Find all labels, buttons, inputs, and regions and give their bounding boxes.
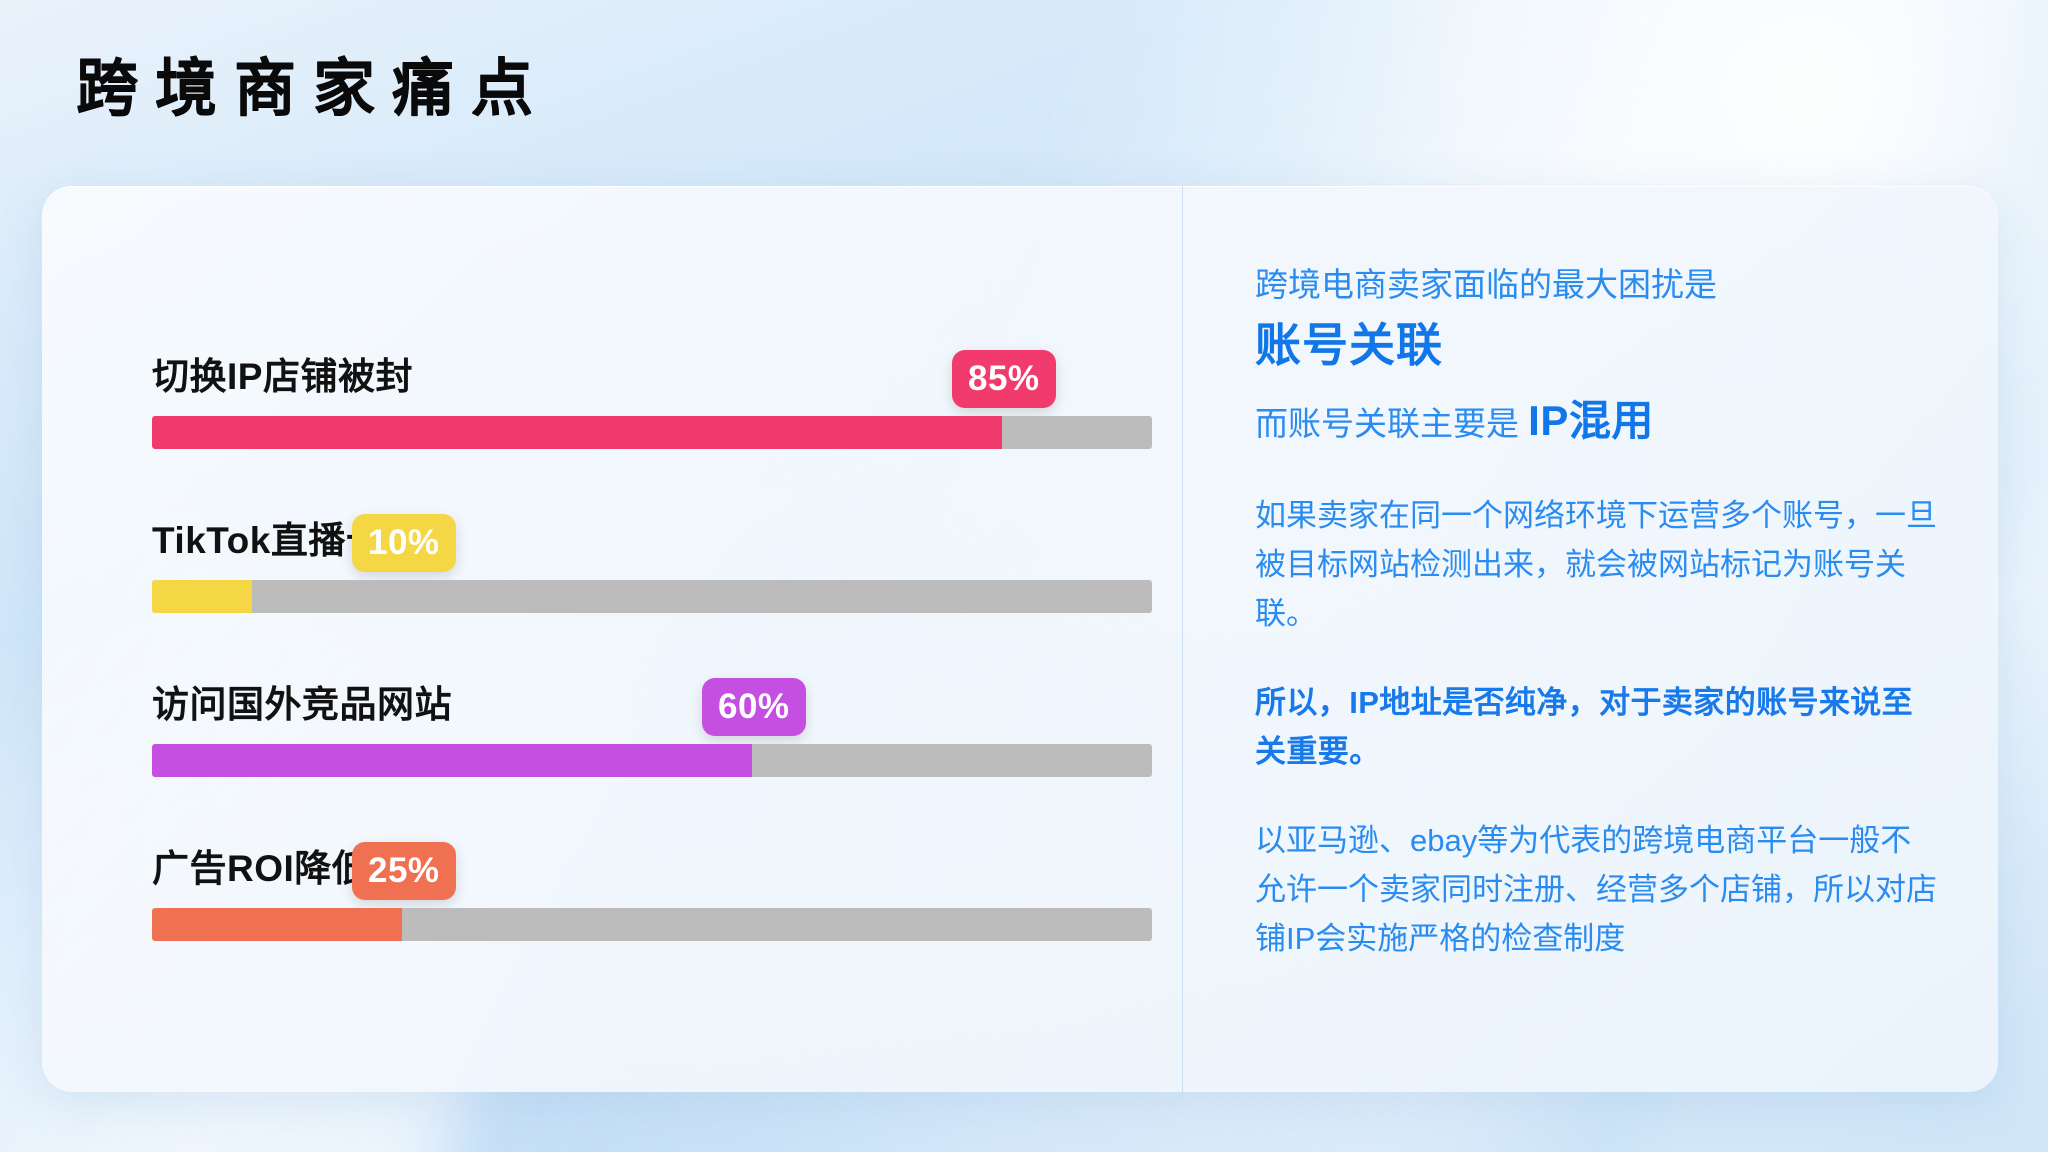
chart-row-header: TikTok直播卡顿 10% xyxy=(86,484,1182,570)
pain-point-bar-chart: 切换IP店铺被封 85% TikTok直播卡顿 10% xyxy=(42,186,1182,1092)
paragraph-importance: 所以，IP地址是否纯净，对于卖家的账号来说至关重要。 xyxy=(1255,679,1940,777)
slide-root: 跨境商家痛点 切换IP店铺被封 85% TikTok直播卡顿 10% xyxy=(0,0,2048,1152)
explanation-panel: 跨境电商卖家面临的最大困扰是 账号关联 而账号关联主要是 IP混用 如果卖家在同… xyxy=(1182,186,1998,1092)
highlight-account-association: 账号关联 xyxy=(1255,314,1940,377)
page-title: 跨境商家痛点 xyxy=(76,56,550,121)
paragraph-platform-policy: 以亚马逊、ebay等为代表的跨境电商平台一般不允许一个卖家同时注册、经营多个店铺… xyxy=(1255,817,1940,964)
chart-row-fill xyxy=(152,744,752,777)
content-card: 切换IP店铺被封 85% TikTok直播卡顿 10% xyxy=(42,186,1998,1092)
paragraph-detection: 如果卖家在同一个网络环境下运营多个账号，一旦被目标网站检测出来，就会被网站标记为… xyxy=(1255,492,1940,639)
chart-row: 访问国外竞品网站 60% xyxy=(86,648,1182,812)
chart-row-value-badge: 25% xyxy=(352,842,456,900)
chart-row-value-badge: 60% xyxy=(702,678,806,736)
chart-row-header: 切换IP店铺被封 85% xyxy=(86,320,1182,406)
chart-row-fill xyxy=(152,908,402,941)
chart-row-track xyxy=(152,744,1152,777)
chart-row: 切换IP店铺被封 85% xyxy=(86,320,1182,484)
chart-row: TikTok直播卡顿 10% xyxy=(86,484,1182,648)
chart-row: 广告ROI降低 25% xyxy=(86,812,1182,976)
highlight-ip-mixing: IP混用 xyxy=(1528,397,1654,444)
lead-secondary-prefix: 而账号关联主要是 xyxy=(1255,405,1519,442)
chart-row-label: 访问国外竞品网站 xyxy=(152,674,452,728)
chart-row-track xyxy=(152,580,1152,613)
chart-row-value-badge: 85% xyxy=(952,350,1056,408)
chart-row-fill xyxy=(152,416,1002,449)
chart-row-track xyxy=(152,908,1152,941)
chart-row-label: 切换IP店铺被封 xyxy=(152,346,413,400)
chart-row-track xyxy=(152,416,1152,449)
chart-row-fill xyxy=(152,580,252,613)
chart-row-header: 广告ROI降低 25% xyxy=(86,812,1182,898)
chart-row-label: 广告ROI降低 xyxy=(152,838,369,892)
lead-text-secondary: 而账号关联主要是 IP混用 xyxy=(1255,389,1940,452)
lead-text: 跨境电商卖家面临的最大困扰是 xyxy=(1255,260,1940,310)
chart-row-value-badge: 10% xyxy=(352,514,456,572)
chart-row-header: 访问国外竞品网站 60% xyxy=(86,648,1182,734)
